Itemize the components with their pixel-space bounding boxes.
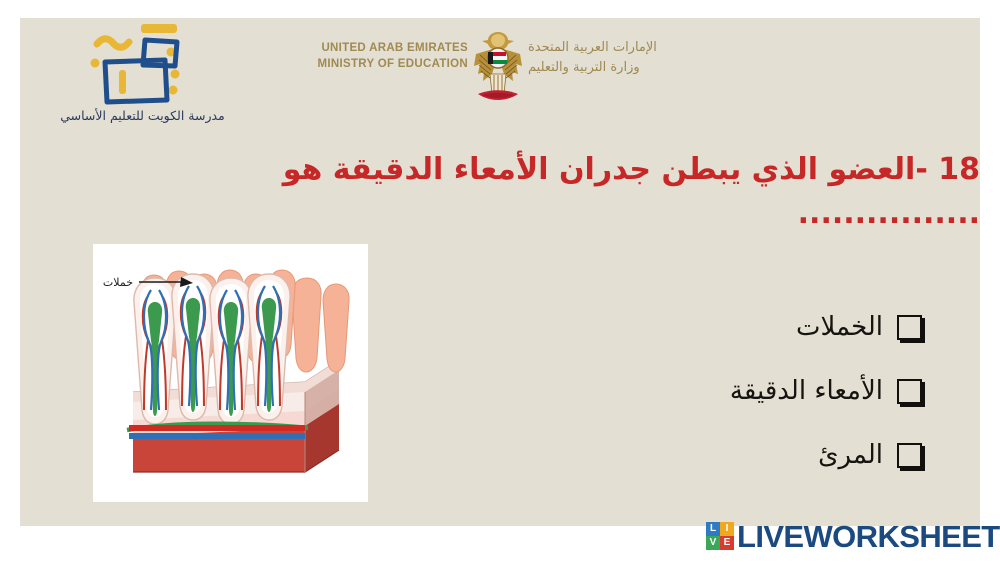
- answer-options-list: الخملات الأمعاء الدقيقة المرئ: [560, 295, 930, 487]
- option-label-2: الأمعاء الدقيقة: [730, 376, 883, 406]
- ministry-english-name: UNITED ARAB EMIRATES MINISTRY OF EDUCATI…: [300, 40, 468, 72]
- lws-tile-e: E: [720, 536, 734, 550]
- ministry-arabic-line1: الإمارات العربية المتحدة: [528, 38, 703, 58]
- liveworksheets-logo[interactable]: L I V E LIVEWORKSHEETS: [706, 518, 1000, 554]
- lws-tile-i: I: [720, 522, 734, 536]
- option-row-2[interactable]: الأمعاء الدقيقة: [560, 359, 930, 423]
- intestinal-villi-diagram: خملات: [93, 244, 368, 502]
- checkbox-option-3[interactable]: [897, 443, 922, 468]
- figure-caption-label: خملات: [103, 276, 133, 289]
- school-logo-block: مدرسة الكويت للتعليم الأساسي: [35, 12, 250, 132]
- lws-tile-l: L: [706, 522, 720, 536]
- option-row-3[interactable]: المرئ: [560, 423, 930, 487]
- option-label-1: الخملات: [796, 312, 883, 342]
- option-label-3: المرئ: [818, 440, 883, 470]
- liveworksheets-tiles-icon: L I V E: [706, 522, 734, 550]
- option-row-1[interactable]: الخملات: [560, 295, 930, 359]
- ministry-english-line2: MINISTRY OF EDUCATION: [300, 56, 468, 72]
- ministry-logo-block: UNITED ARAB EMIRATES MINISTRY OF EDUCATI…: [300, 28, 700, 118]
- school-abstract-mark-icon: [83, 20, 203, 110]
- uae-falcon-emblem-icon: [472, 28, 524, 108]
- ministry-arabic-name: الإمارات العربية المتحدة وزارة التربية و…: [528, 38, 703, 78]
- school-name-label: مدرسة الكويت للتعليم الأساسي: [35, 108, 250, 123]
- checkbox-option-2[interactable]: [897, 379, 922, 404]
- ministry-arabic-line2: وزارة التربية والتعليم: [528, 58, 703, 78]
- ministry-english-line1: UNITED ARAB EMIRATES: [300, 40, 468, 56]
- checkbox-option-1[interactable]: [897, 315, 922, 340]
- liveworksheets-wordmark: LIVEWORKSHEETS: [737, 521, 1000, 552]
- lws-tile-v: V: [706, 536, 720, 550]
- question-text: 18 -العضو الذي يبطن جدران الأمعاء الدقيق…: [170, 148, 980, 236]
